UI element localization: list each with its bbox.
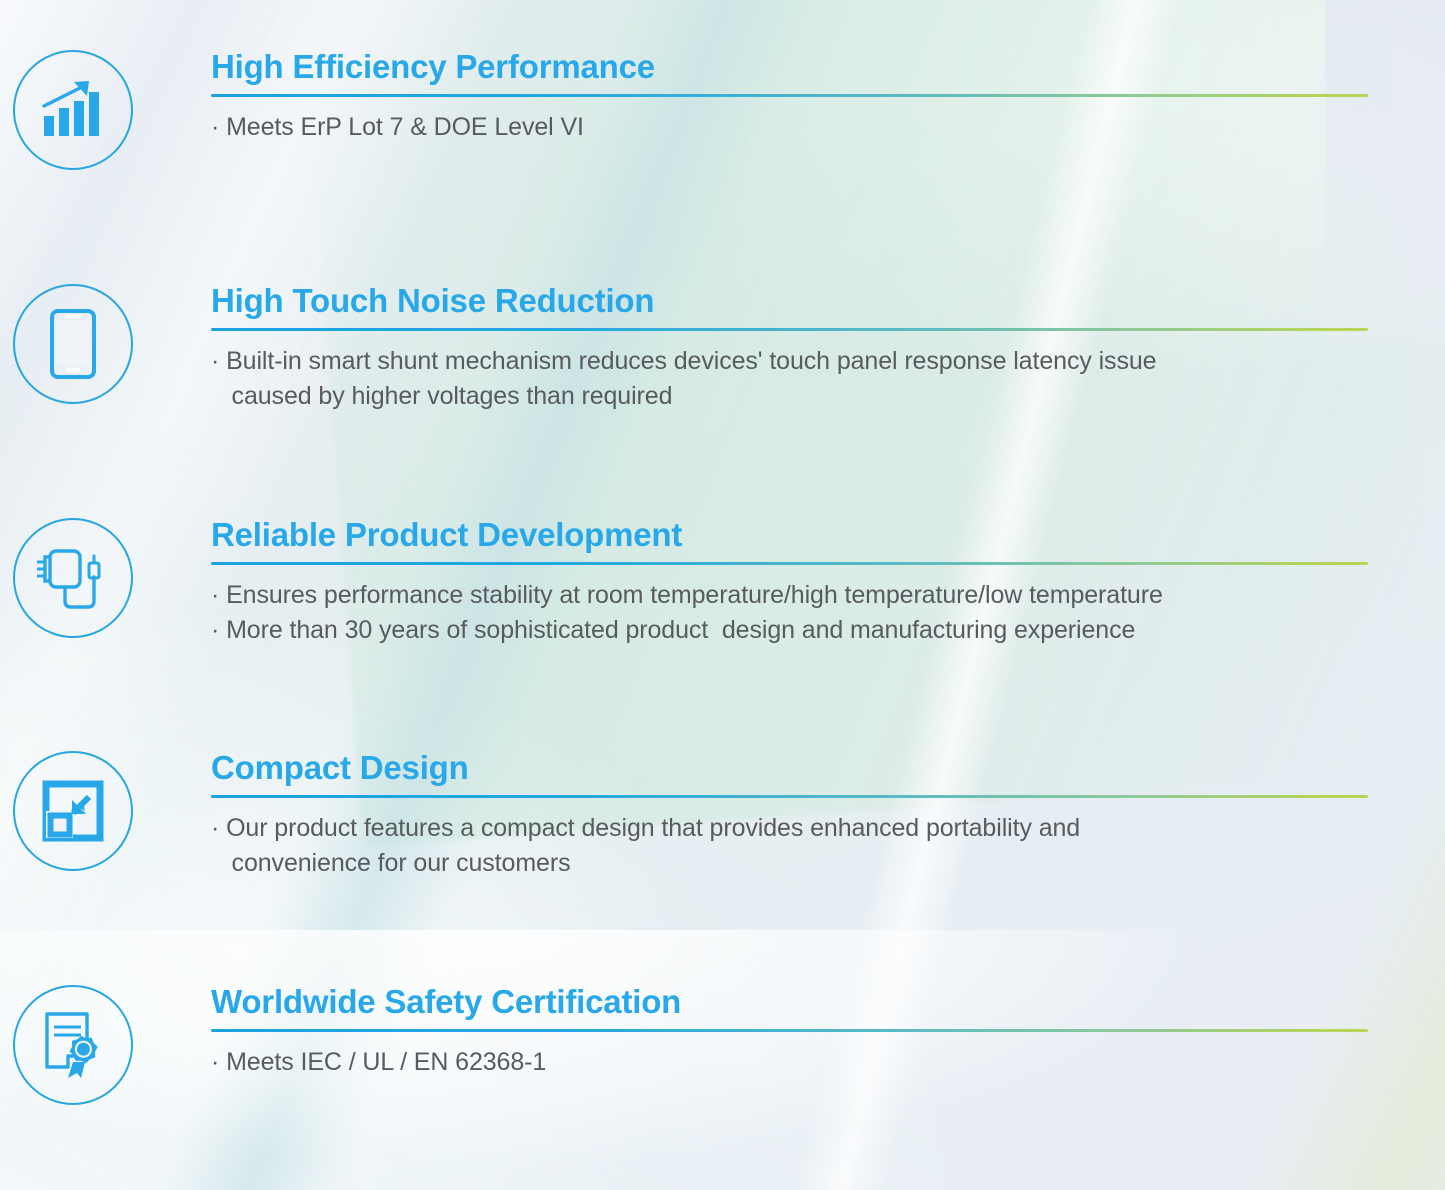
feature-bullet-list: · Ensures performance stability at room … xyxy=(211,565,1368,649)
feature-item-reliable-product-development: Reliable Product Development · Ensures p… xyxy=(0,518,1445,649)
power-adapter-icon xyxy=(36,543,110,613)
icon-circle xyxy=(13,985,133,1105)
feature-title: High Touch Noise Reduction xyxy=(211,284,1368,328)
icon-circle xyxy=(13,751,133,871)
feature-bullet-list: · Meets IEC / UL / EN 62368-1 xyxy=(211,1032,1368,1081)
feature-icon-wrap xyxy=(0,284,145,404)
bar-chart-growth-icon xyxy=(40,79,106,141)
feature-title: Worldwide Safety Certification xyxy=(211,985,1368,1029)
feature-body: Reliable Product Development · Ensures p… xyxy=(145,518,1445,649)
feature-icon-wrap xyxy=(0,985,145,1105)
feature-bullet-list: · Meets ErP Lot 7 & DOE Level VI xyxy=(211,97,1368,146)
feature-item-worldwide-safety-certification: Worldwide Safety Certification · Meets I… xyxy=(0,985,1445,1105)
icon-circle xyxy=(13,50,133,170)
feature-item-high-efficiency-performance: High Efficiency Performance · Meets ErP … xyxy=(0,50,1445,170)
feature-title: Compact Design xyxy=(211,751,1368,795)
feature-title: High Efficiency Performance xyxy=(211,50,1368,94)
certificate-seal-icon xyxy=(40,1010,106,1080)
feature-bullet: · Meets IEC / UL / EN 62368-1 xyxy=(211,1045,1368,1081)
features-list: High Efficiency Performance · Meets ErP … xyxy=(0,0,1445,1190)
feature-title: Reliable Product Development xyxy=(211,518,1368,562)
feature-icon-wrap xyxy=(0,518,145,638)
feature-item-compact-design: Compact Design · Our product features a … xyxy=(0,751,1445,882)
feature-item-high-touch-noise-reduction: High Touch Noise Reduction · Built-in sm… xyxy=(0,284,1445,415)
feature-icon-wrap xyxy=(0,751,145,871)
compact-resize-icon xyxy=(42,780,104,842)
feature-bullet: · More than 30 years of sophisticated pr… xyxy=(211,613,1368,649)
feature-bullet: · Built-in smart shunt mechanism reduces… xyxy=(211,344,1368,415)
icon-circle xyxy=(13,284,133,404)
feature-bullet-list: · Built-in smart shunt mechanism reduces… xyxy=(211,331,1368,415)
feature-bullet-list: · Our product features a compact design … xyxy=(211,798,1368,882)
feature-icon-wrap xyxy=(0,50,145,170)
icon-circle xyxy=(13,518,133,638)
feature-highlights-page: High Efficiency Performance · Meets ErP … xyxy=(0,0,1445,1190)
feature-body: High Efficiency Performance · Meets ErP … xyxy=(145,50,1445,145)
feature-body: High Touch Noise Reduction · Built-in sm… xyxy=(145,284,1445,415)
feature-bullet: · Our product features a compact design … xyxy=(211,811,1368,882)
smartphone-icon xyxy=(50,309,96,379)
feature-bullet: · Ensures performance stability at room … xyxy=(211,578,1368,614)
feature-body: Worldwide Safety Certification · Meets I… xyxy=(145,985,1445,1080)
feature-body: Compact Design · Our product features a … xyxy=(145,751,1445,882)
feature-bullet: · Meets ErP Lot 7 & DOE Level VI xyxy=(211,110,1368,146)
